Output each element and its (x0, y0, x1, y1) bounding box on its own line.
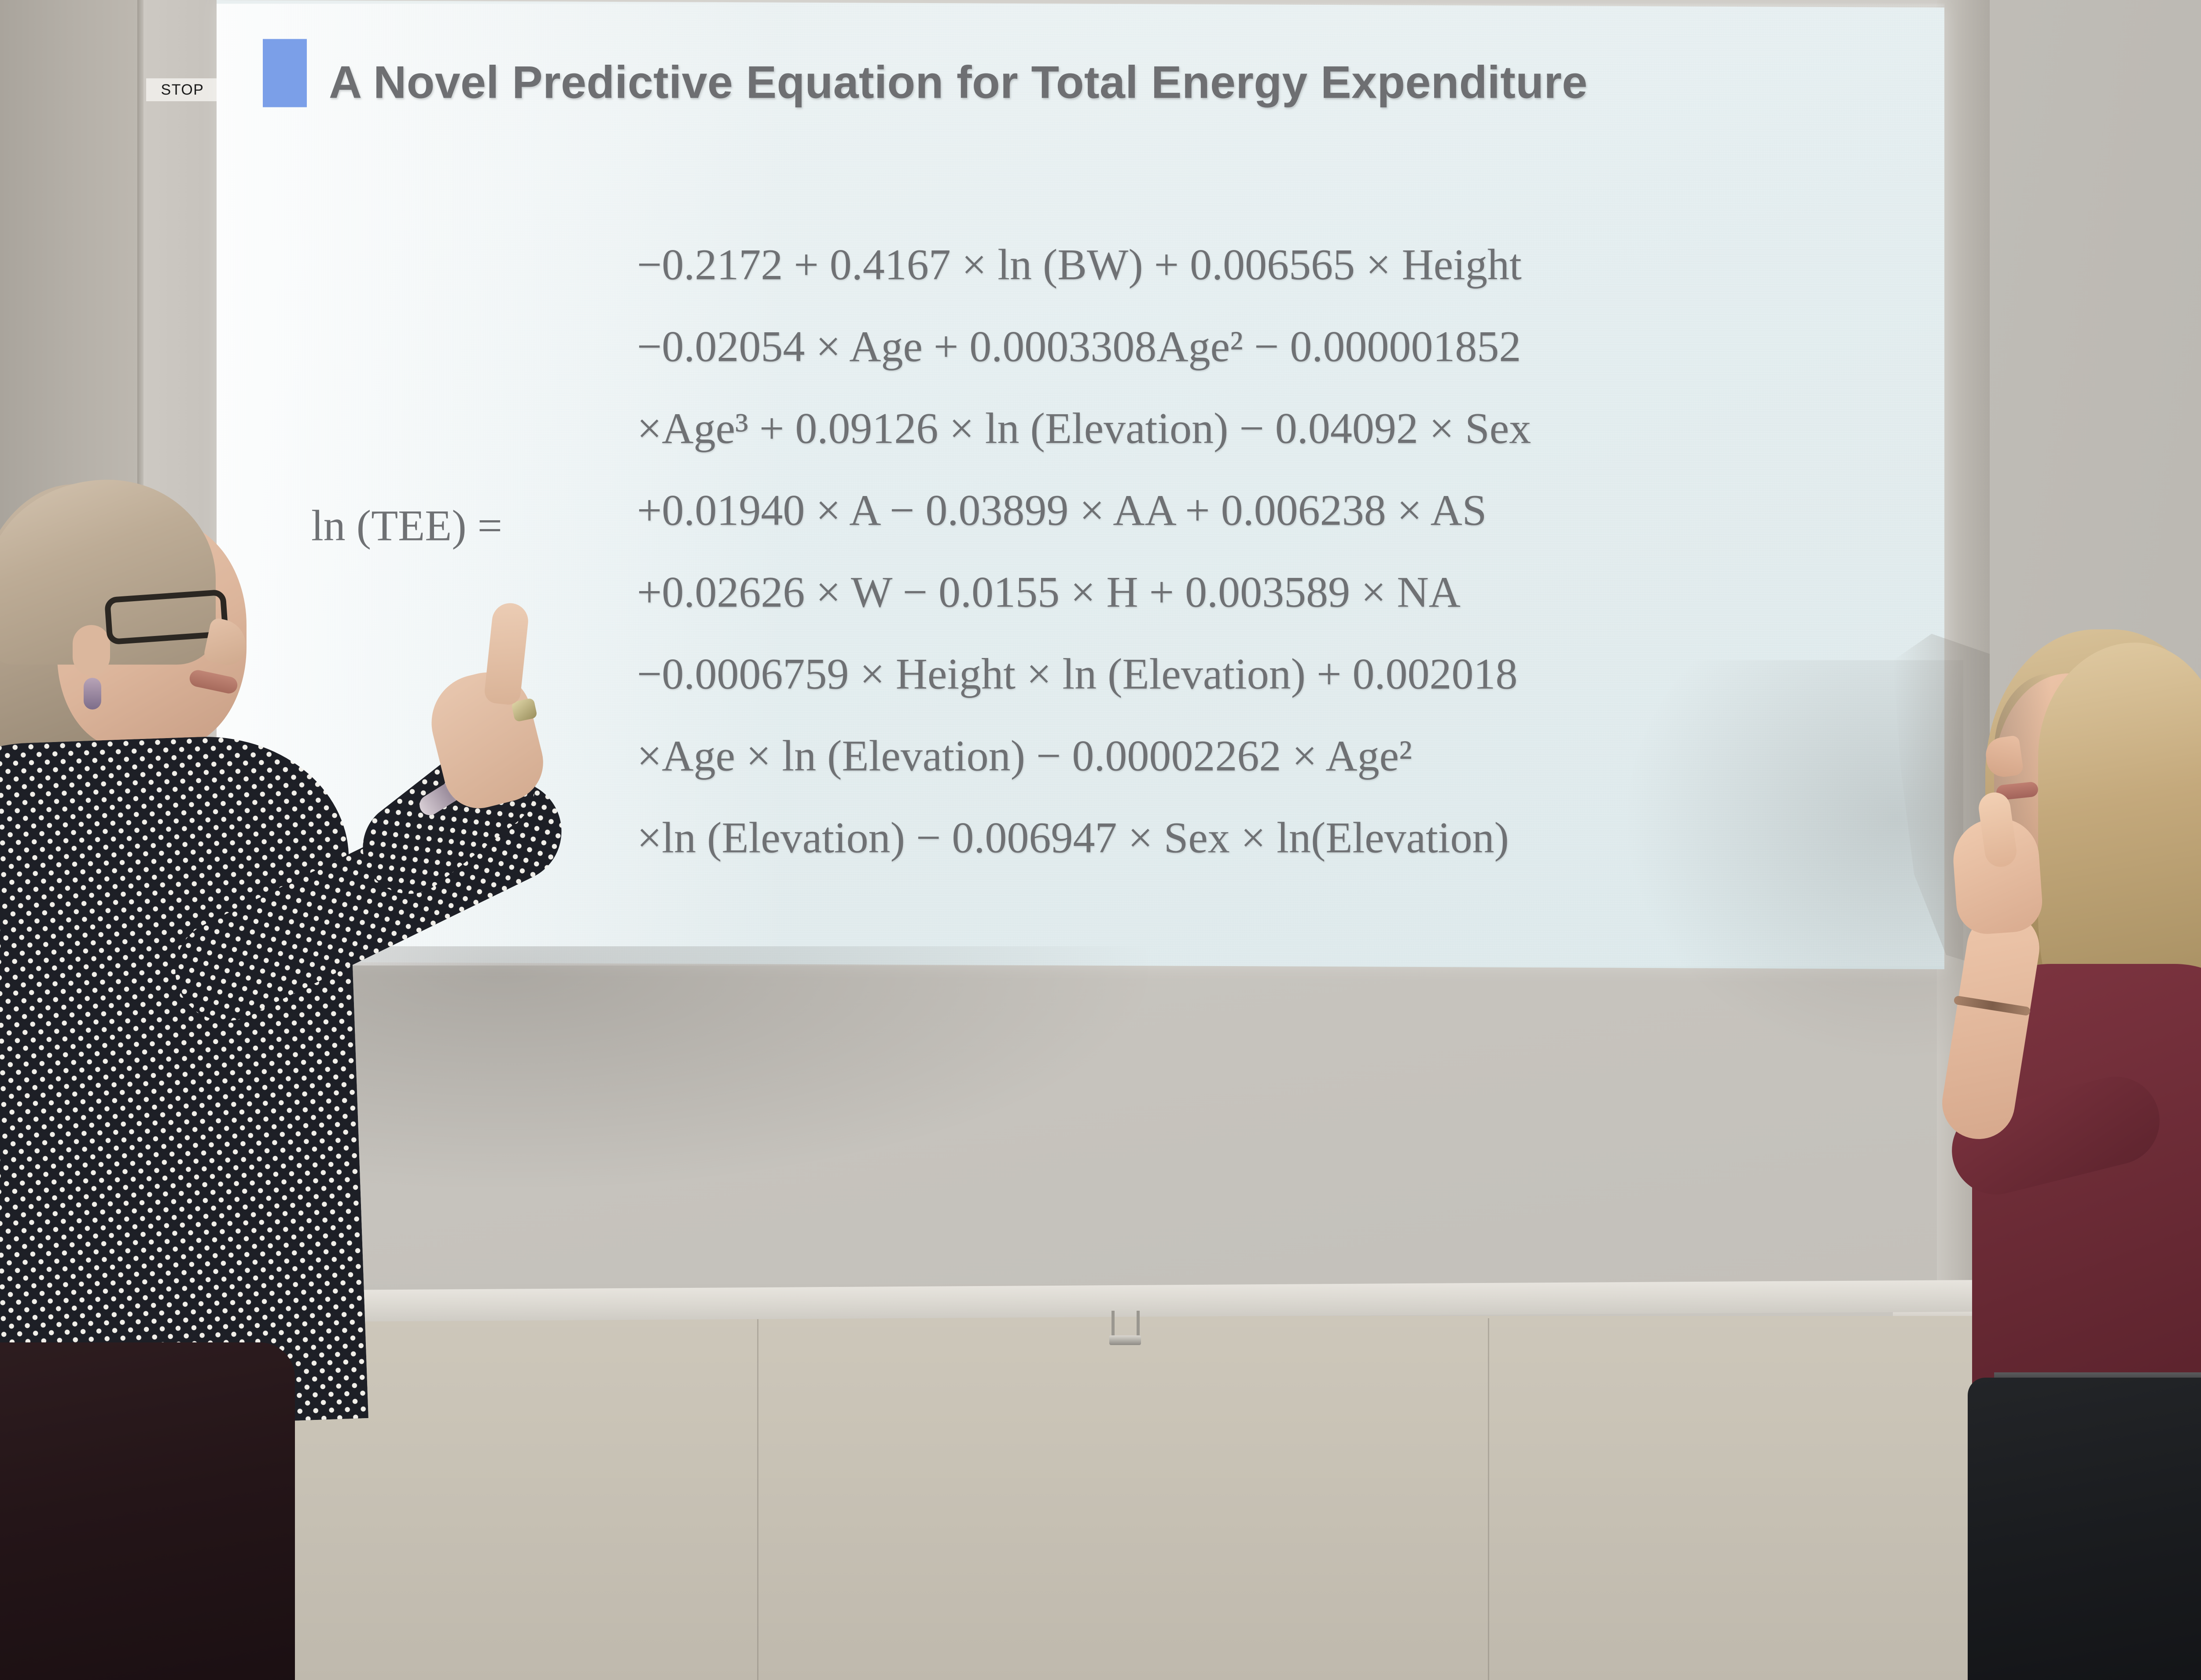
person-listener-thinking (1906, 629, 2201, 1680)
pants (0, 1342, 295, 1680)
equation-line: −0.2172 + 0.4167 × ln (BW) + 0.006565 × … (637, 224, 1914, 306)
ear (73, 625, 110, 676)
torso-patterned-blouse (0, 732, 368, 1434)
equation-line: −0.02054 × Age + 0.0003308Age² − 0.00000… (637, 306, 1914, 388)
equation-line: +0.02626 × W − 0.0155 × H + 0.003589 × N… (637, 551, 1914, 633)
slide-title: A Novel Predictive Equation for Total En… (329, 57, 1588, 109)
pants (1968, 1378, 2201, 1680)
person-presenter-pointing (0, 467, 546, 1680)
equation-line: ×Age³ + 0.09126 × ln (Elevation) − 0.040… (637, 388, 1914, 470)
cabinet-seam (1488, 1318, 1489, 1680)
slide-accent-rectangle (263, 39, 307, 107)
stop-sign-label: STOP (146, 78, 219, 101)
equation-line: +0.01940 × A − 0.03899 × AA + 0.006238 ×… (637, 470, 1914, 551)
earring (84, 678, 101, 709)
screen-pull-handle-icon[interactable] (1112, 1311, 1140, 1341)
screenshot-root: STOP A Novel Predictive Equation for Tot… (0, 0, 2201, 1680)
cabinet-seam (757, 1318, 758, 1680)
